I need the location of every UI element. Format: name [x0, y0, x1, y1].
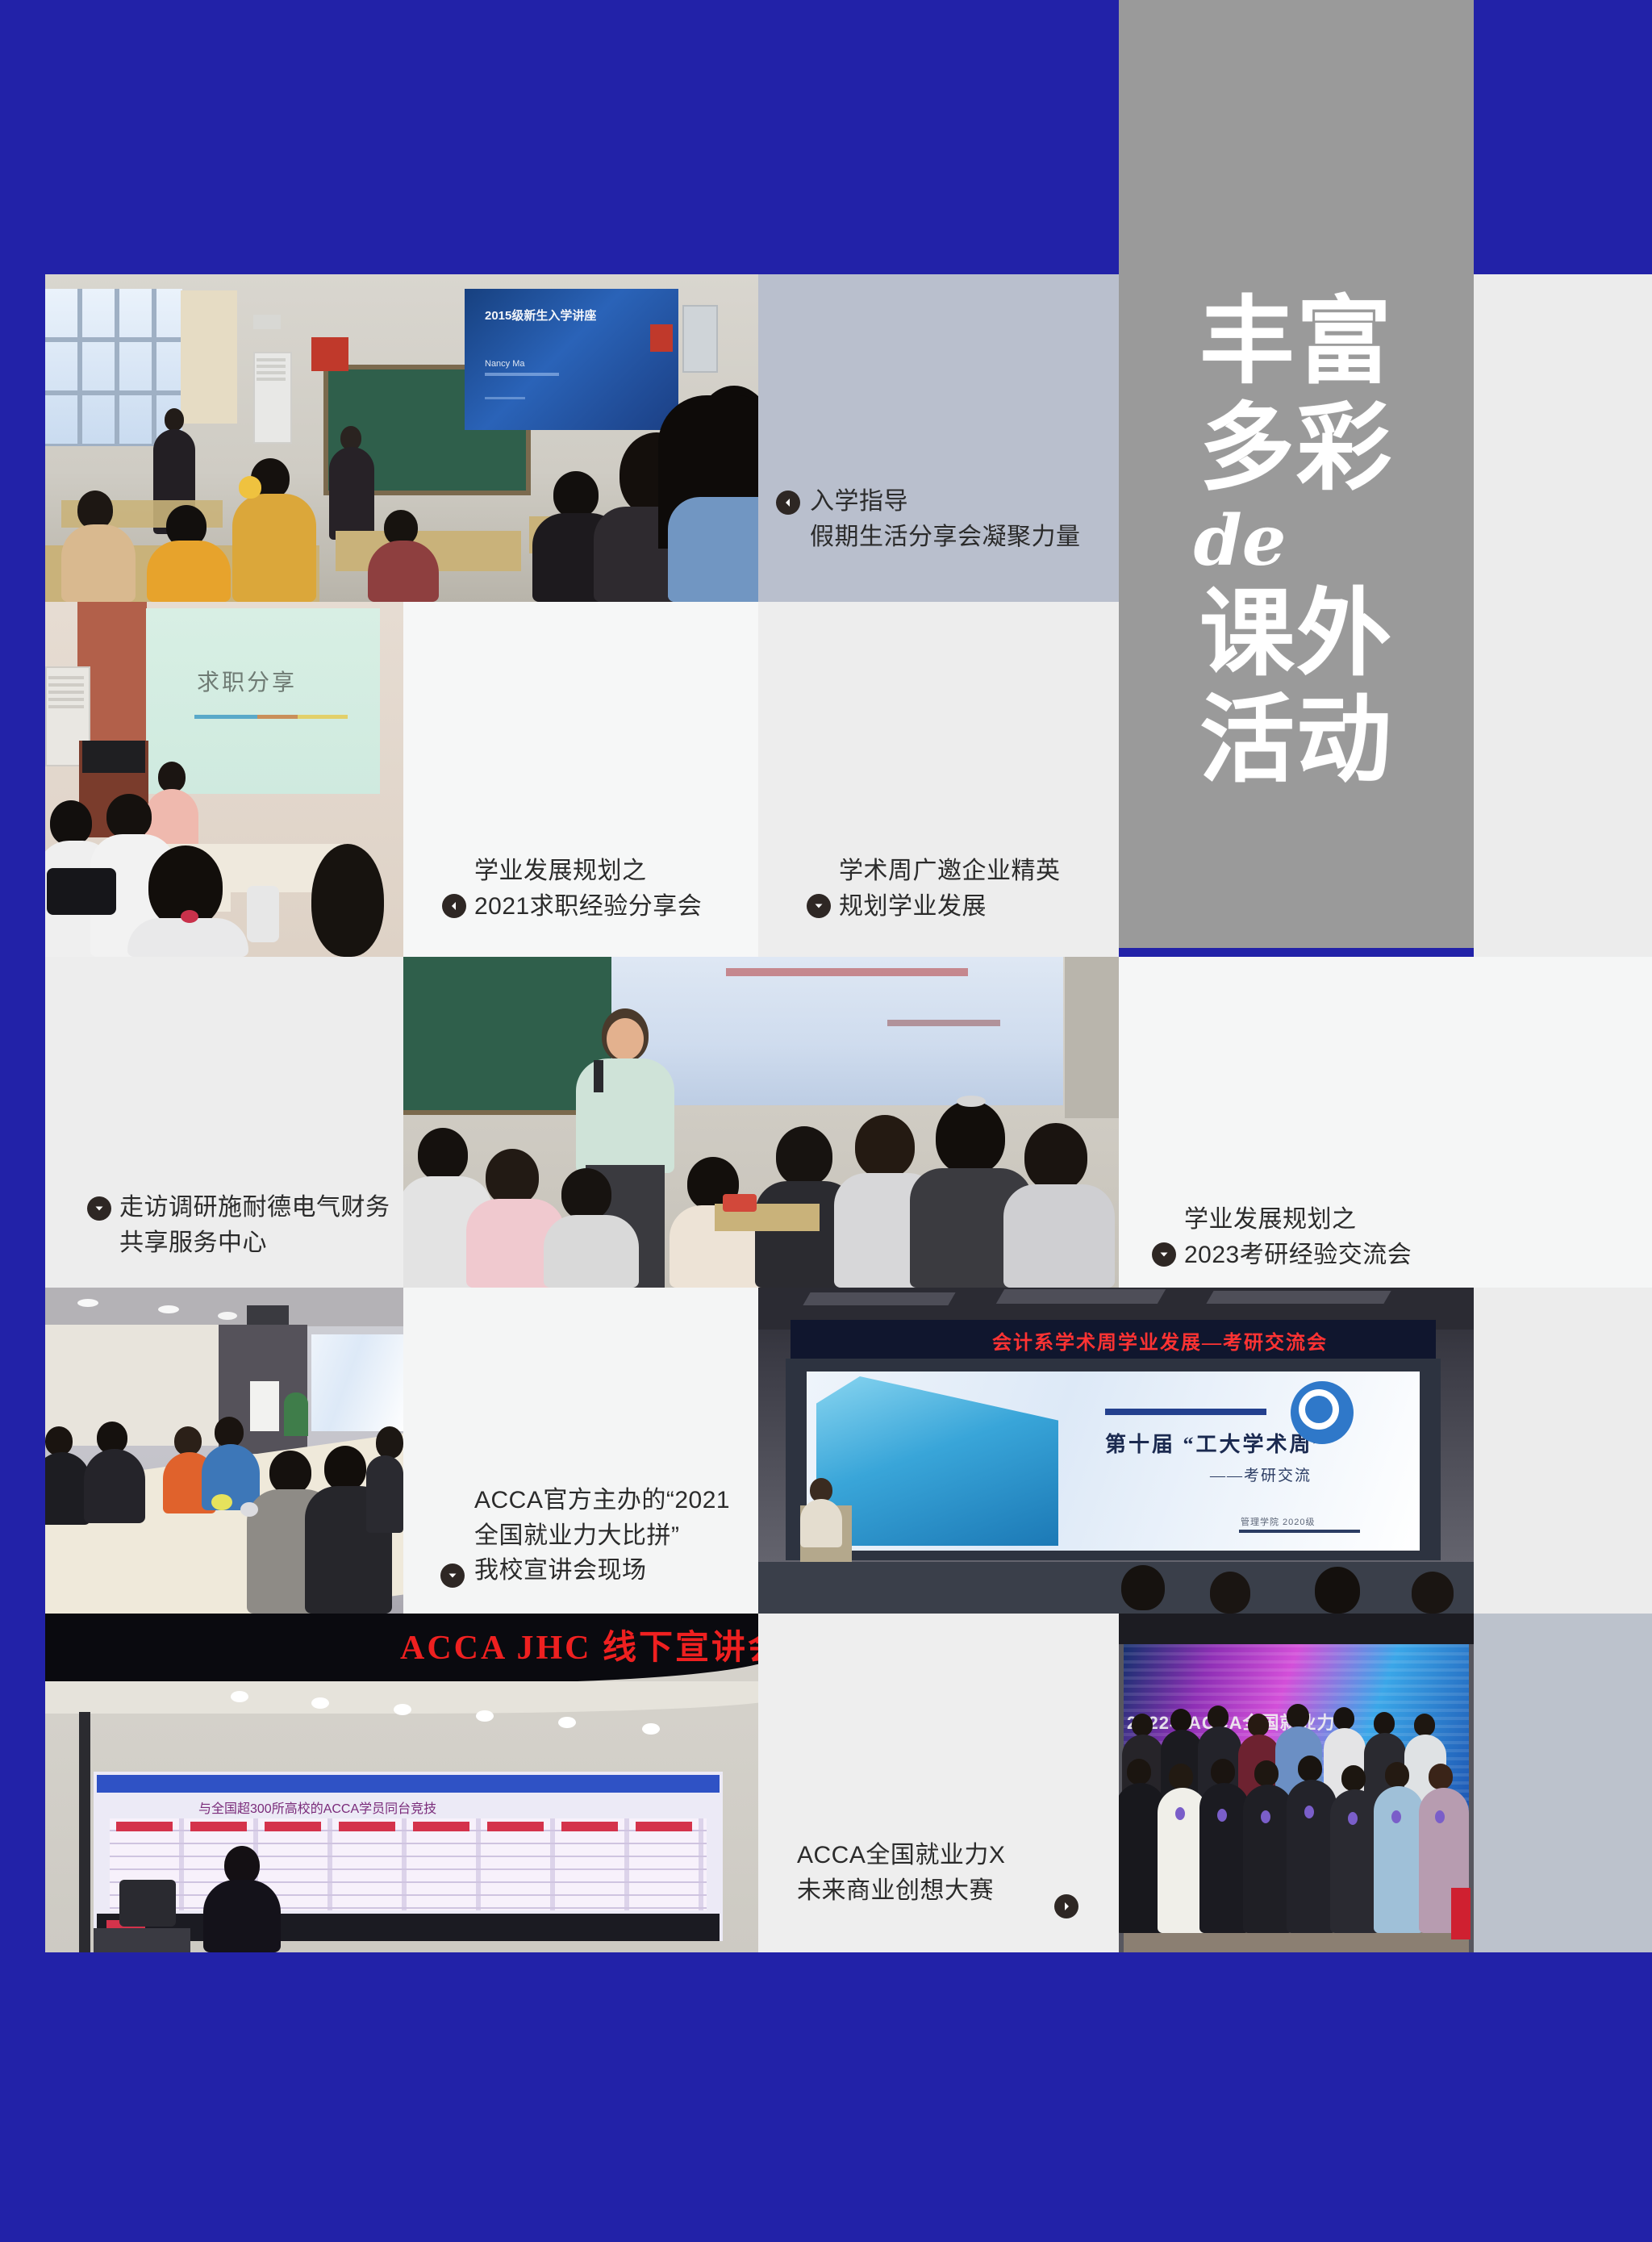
photo-screen-title: 求职分享: [197, 665, 297, 697]
caption-line: 2021求职经验分享会: [474, 889, 702, 925]
title-line-1: 丰富: [1199, 289, 1393, 395]
caption-acca-future: ACCA全国就业力X 未来商业创想大赛: [797, 1838, 1005, 1908]
photo-projector-presenter: Nancy Ma: [485, 359, 525, 369]
caption-line: 学业发展规划之: [474, 854, 702, 889]
photo-acca-jhc-offline: ACCA JHC 线下宣讲会 与全国超300所高校的ACCA学员同台竞技: [45, 1614, 758, 1952]
caption-line: 学术周广邀企业精英: [839, 854, 1061, 889]
photo-screen-caption: 与全国超300所高校的ACCA学员同台竞技: [198, 1797, 436, 1817]
person-body: [576, 1058, 674, 1173]
photo-academic-week-hall: 会计系学术周学业发展—考研交流会 第十届 “工大学术周” ——考研交流 管理学院…: [758, 1288, 1474, 1614]
tile-r4c4: [1474, 1288, 1652, 1614]
photo-career-sharing: 求职分享: [45, 602, 403, 957]
photo-projector-title: 2015级新生入学讲座: [485, 307, 596, 324]
caption-line: 我校宣讲会现场: [474, 1553, 730, 1589]
photo-orientation-lecture: 2015级新生入学讲座 Nancy Ma: [45, 274, 758, 602]
projector-screen: [311, 1334, 403, 1431]
caption-academic-enterprise: 学术周广邀企业精英 规划学业发展: [839, 854, 1061, 924]
caption-line: ACCA全国就业力X: [797, 1838, 1005, 1873]
arrow-right-icon-acca-future[interactable]: [1054, 1894, 1078, 1918]
caption-schneider: 走访调研施耐德电气财务 共享服务中心: [119, 1190, 390, 1260]
caption-line: 全国就业力大比拼”: [474, 1518, 730, 1554]
caption-line: 假期生活分享会凝聚力量: [810, 520, 1081, 555]
title-line-4: 活动: [1199, 687, 1393, 794]
arrow-left-icon-career-2021[interactable]: [442, 894, 466, 918]
caption-line: 2023考研经验交流会: [1184, 1238, 1412, 1273]
caption-line: 入学指导: [810, 484, 1081, 520]
caption-line: 走访调研施耐德电气财务: [119, 1190, 390, 1225]
photo-acca-group: 2022年ACCA全国就业力: [1119, 1614, 1474, 1952]
poster-canvas: 2015级新生入学讲座 Nancy Ma: [0, 0, 1652, 2242]
photo-postgrad-lecture: [403, 957, 1119, 1288]
title-line-3: 课外: [1199, 581, 1393, 687]
caption-line: ACCA官方主办的“2021: [474, 1483, 730, 1518]
caption-career-2021: 学业发展规划之 2021求职经验分享会: [474, 854, 702, 924]
title-line-2: 多彩: [1199, 395, 1393, 502]
title-band: 丰富 多彩 de 课外 活动: [1119, 0, 1474, 948]
arrow-left-icon-orientation[interactable]: [776, 491, 800, 515]
photo-led-text: ACCA JHC 线下宣讲会: [400, 1620, 758, 1669]
projector-screen: [611, 957, 1063, 1105]
caption-line: 规划学业发展: [839, 889, 1061, 925]
tile-r1c4: [1474, 274, 1652, 602]
photo-slide-title: 第十届 “工大学术周”: [1105, 1428, 1326, 1458]
arrow-down-icon-acca-2021[interactable]: [440, 1564, 465, 1588]
arrow-down-icon-academic-enterprise[interactable]: [807, 894, 831, 918]
tile-r5c4: [1474, 1614, 1652, 1952]
tile-r2c4: [1474, 602, 1652, 957]
photo-led-banner-text: 会计系学术周学业发展—考研交流会: [992, 1326, 1328, 1355]
caption-postgrad-2023: 学业发展规划之 2023考研经验交流会: [1184, 1202, 1412, 1272]
photo-slide-footer: 管理学院 2020级: [1241, 1515, 1316, 1528]
caption-acca-2021: ACCA官方主办的“2021 全国就业力大比拼” 我校宣讲会现场: [474, 1483, 730, 1589]
title-de: de: [1194, 507, 1287, 576]
caption-orientation: 入学指导 假期生活分享会凝聚力量: [810, 484, 1081, 554]
caption-line: 未来商业创想大赛: [797, 1873, 1005, 1909]
photo-slide-subtitle: ——考研交流: [1210, 1463, 1312, 1485]
caption-line: 共享服务中心: [119, 1225, 390, 1261]
caption-line: 学业发展规划之: [1184, 1202, 1412, 1238]
arrow-down-icon-schneider[interactable]: [87, 1196, 111, 1221]
arrow-down-icon-postgrad-2023[interactable]: [1152, 1242, 1176, 1267]
poster-title: 丰富 多彩 de 课外 活动: [1119, 274, 1474, 948]
person-body: [329, 447, 374, 540]
photo-schneider-meeting: [45, 1288, 403, 1614]
